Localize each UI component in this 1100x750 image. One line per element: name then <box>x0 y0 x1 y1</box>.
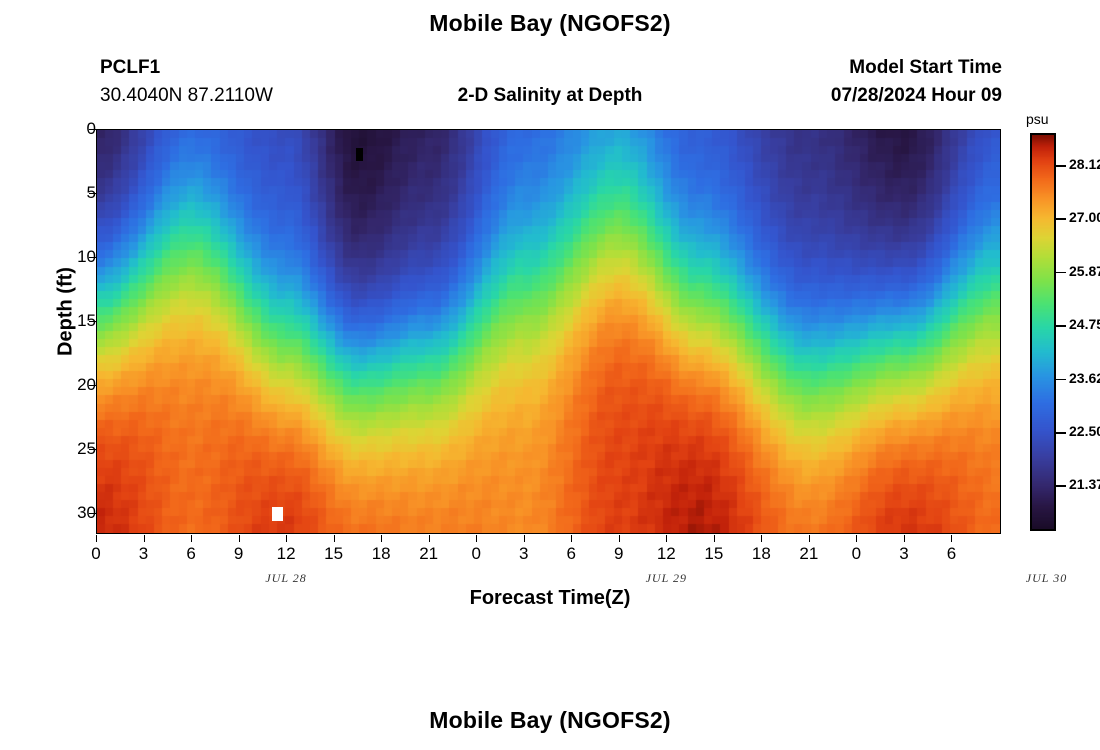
y-tick-mark <box>89 129 96 130</box>
x-date-label: JUL 29 <box>616 571 716 586</box>
x-tick-label: 6 <box>931 544 971 564</box>
colorbar-tick-mark <box>1056 218 1066 220</box>
y-tick-mark <box>89 321 96 322</box>
y-tick-mark <box>89 193 96 194</box>
x-tick-mark <box>761 535 762 542</box>
colorbar <box>1030 133 1056 531</box>
model-start-time-label: Model Start Time <box>849 57 1002 79</box>
x-tick-label: 6 <box>171 544 211 564</box>
colorbar-tick-label: 22.500 <box>1069 423 1100 439</box>
y-tick: 30 <box>52 513 96 514</box>
x-tick-label: 0 <box>456 544 496 564</box>
x-tick-mark <box>381 535 382 542</box>
x-tick-label: 0 <box>76 544 116 564</box>
y-tick-mark <box>89 513 96 514</box>
x-tick-label: 3 <box>504 544 544 564</box>
x-tick-mark <box>619 535 620 542</box>
x-tick-mark <box>239 535 240 542</box>
x-tick-mark <box>286 535 287 542</box>
x-tick-label: 12 <box>646 544 686 564</box>
y-tick-mark <box>89 449 96 450</box>
x-tick-mark <box>96 535 97 542</box>
colorbar-tick-label: 24.750 <box>1069 316 1100 332</box>
colorbar-tick-label: 21.375 <box>1069 476 1100 492</box>
colorbar-tick-mark <box>1056 272 1066 274</box>
x-tick-mark <box>951 535 952 542</box>
colorbar-tick-label: 23.625 <box>1069 370 1100 386</box>
y-tick: 20 <box>52 385 96 386</box>
x-axis-title: Forecast Time(Z) <box>0 587 1100 610</box>
salinity-heatmap-canvas <box>97 130 1000 533</box>
x-tick-mark <box>809 535 810 542</box>
x-tick-label: 0 <box>836 544 876 564</box>
colorbar-tick-mark <box>1056 325 1066 327</box>
x-tick-mark <box>429 535 430 542</box>
y-tick: 0 <box>52 129 96 130</box>
colorbar-unit-label: psu <box>1026 111 1049 127</box>
x-axis-ticks: 036912151821036912151821036JUL 28JUL 29J… <box>96 535 1001 595</box>
y-tick: 10 <box>52 257 96 258</box>
x-tick-label: 12 <box>266 544 306 564</box>
x-tick-mark <box>714 535 715 542</box>
heatmap-plot-area <box>96 129 1001 534</box>
x-tick-label: 15 <box>694 544 734 564</box>
x-tick-label: 9 <box>219 544 259 564</box>
x-tick-mark <box>334 535 335 542</box>
x-tick-mark <box>476 535 477 542</box>
colorbar-tick-label: 25.875 <box>1069 263 1100 279</box>
x-tick-label: 21 <box>789 544 829 564</box>
x-tick-mark <box>856 535 857 542</box>
station-id: PCLF1 <box>100 57 160 79</box>
x-tick-mark <box>571 535 572 542</box>
colorbar-tick-mark <box>1056 485 1066 487</box>
colorbar-tick-mark <box>1056 165 1066 167</box>
x-date-label: JUL 28 <box>236 571 336 586</box>
x-tick-label: 15 <box>314 544 354 564</box>
observation-marker-dark <box>356 148 363 161</box>
y-tick-mark <box>89 385 96 386</box>
y-tick-mark <box>89 257 96 258</box>
page-title: Mobile Bay (NGOFS2) <box>0 10 1100 37</box>
observation-marker-light <box>272 507 283 521</box>
colorbar-tick-mark <box>1056 432 1066 434</box>
colorbar-gradient-canvas <box>1032 135 1054 529</box>
x-tick-label: 9 <box>599 544 639 564</box>
x-tick-mark <box>904 535 905 542</box>
colorbar-tick-mark <box>1056 379 1066 381</box>
x-tick-label: 18 <box>361 544 401 564</box>
x-tick-label: 18 <box>741 544 781 564</box>
x-tick-mark <box>524 535 525 542</box>
colorbar-tick-label: 27.000 <box>1069 209 1100 225</box>
y-tick: 25 <box>52 449 96 450</box>
footer-title: Mobile Bay (NGOFS2) <box>0 707 1100 734</box>
x-tick-label: 3 <box>124 544 164 564</box>
y-tick: 15 <box>52 321 96 322</box>
colorbar-tick-label: 28.125 <box>1069 156 1100 172</box>
x-date-label: JUL 30 <box>997 571 1097 586</box>
x-tick-mark <box>666 535 667 542</box>
model-start-time-value: 07/28/2024 Hour 09 <box>831 85 1002 107</box>
x-tick-label: 3 <box>884 544 924 564</box>
x-tick-mark <box>144 535 145 542</box>
y-tick: 5 <box>52 193 96 194</box>
x-tick-mark <box>191 535 192 542</box>
x-tick-label: 21 <box>409 544 449 564</box>
x-tick-label: 6 <box>551 544 591 564</box>
